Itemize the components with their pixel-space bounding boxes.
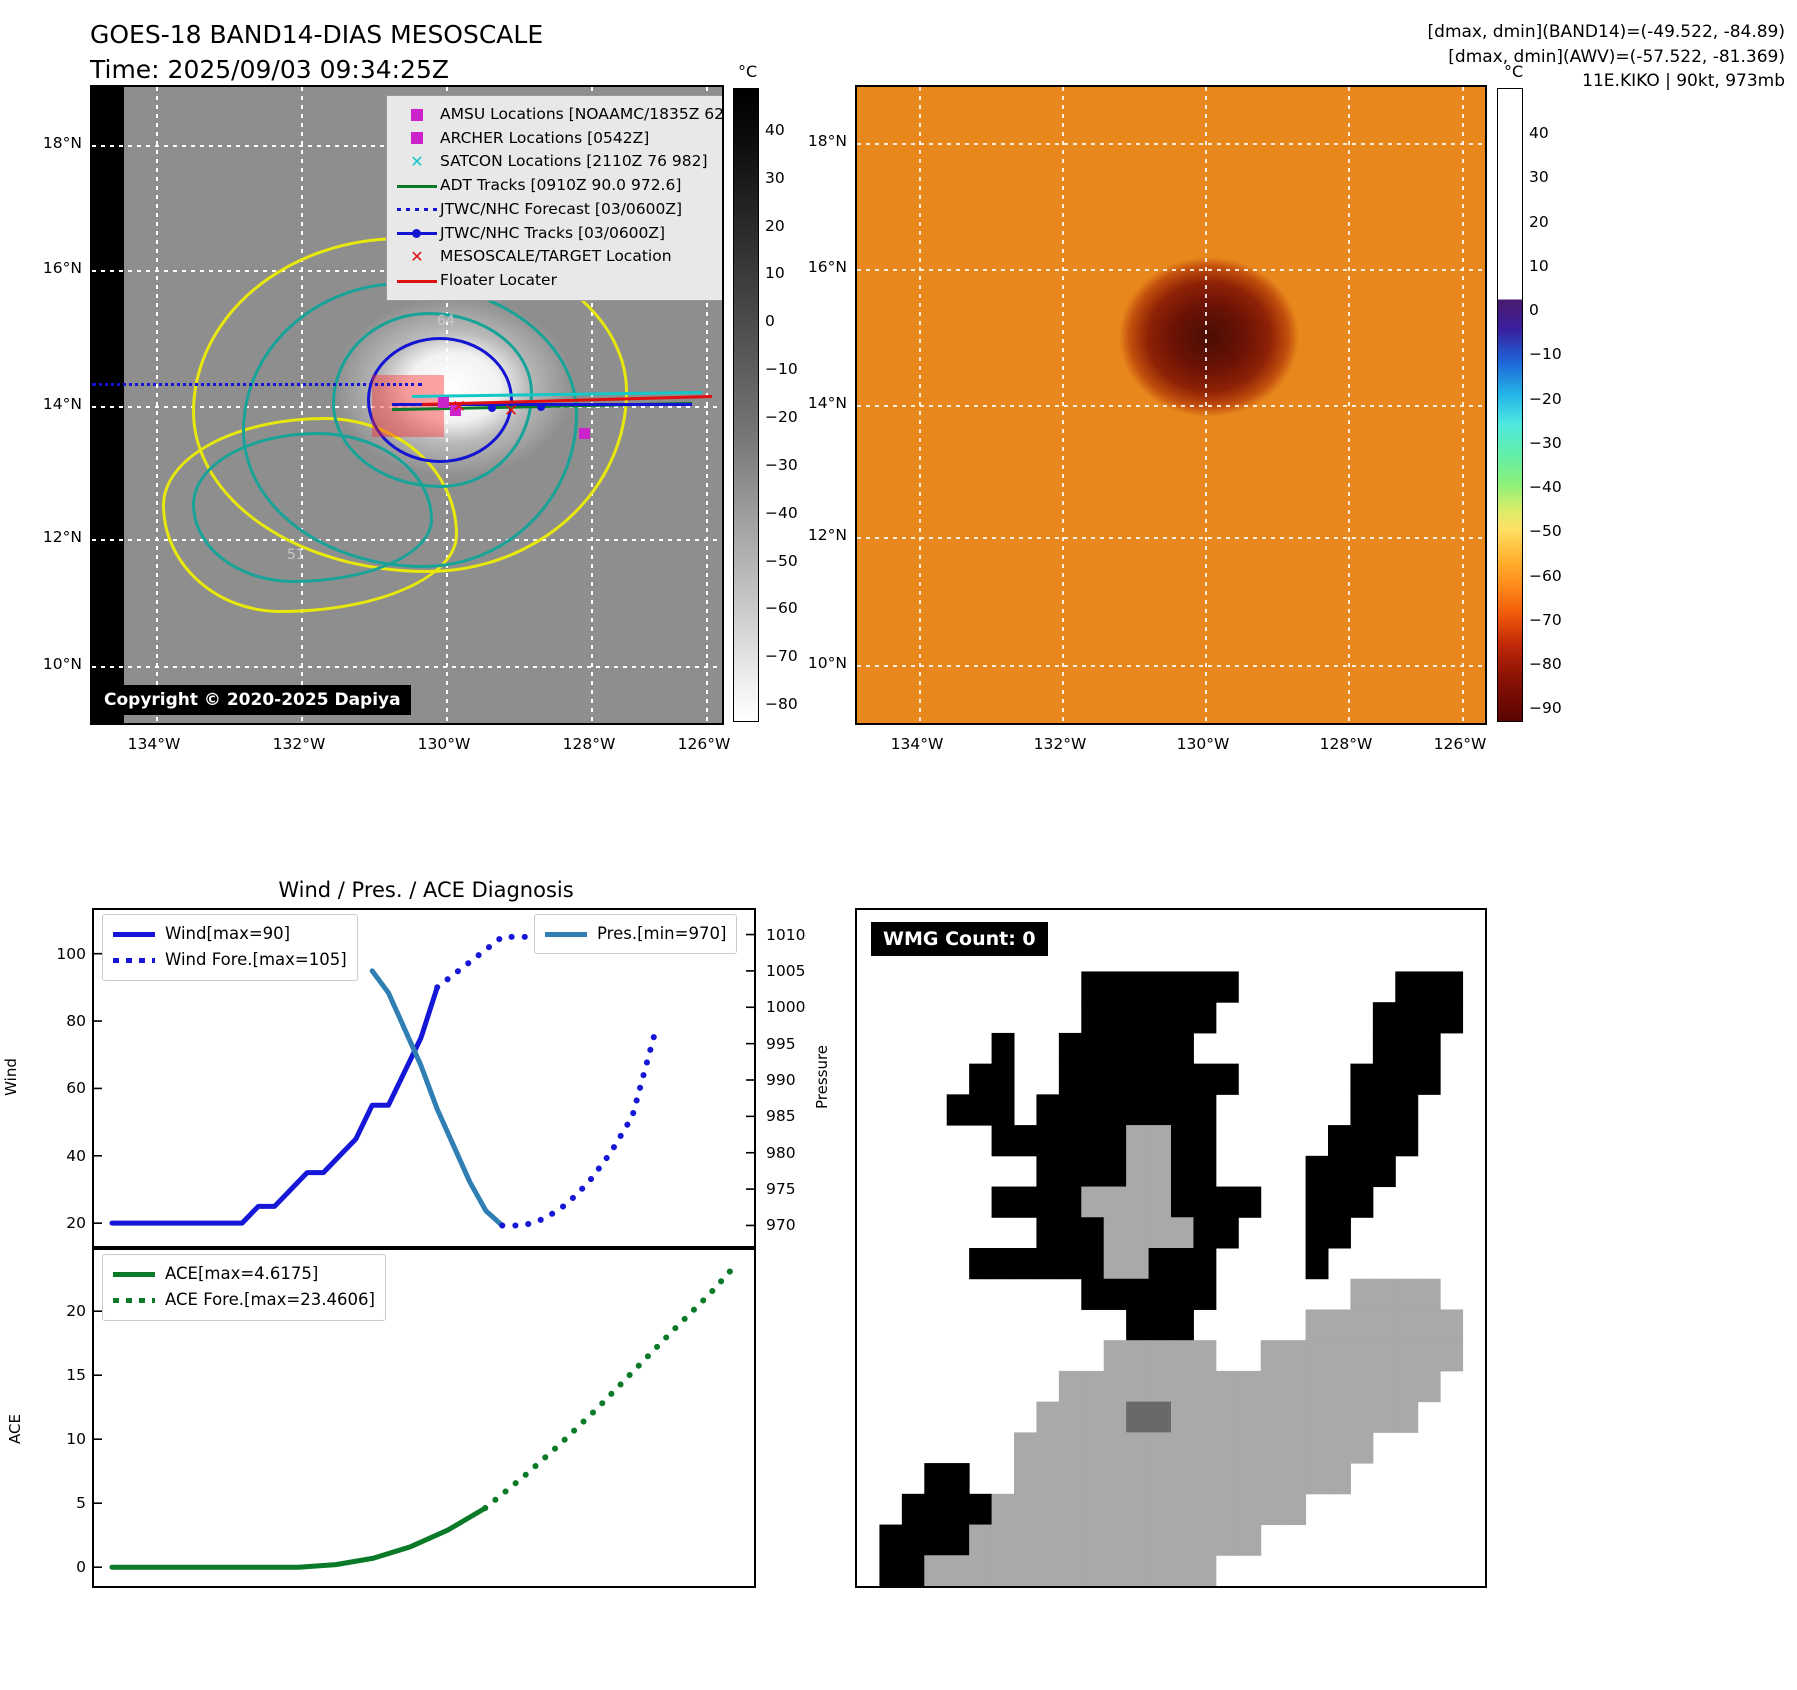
legend-label: ADT Tracks [0910Z 90.0 972.6] <box>440 174 681 198</box>
archer-location-marker <box>579 428 590 439</box>
mesoscale-target-x: ✕ <box>452 399 466 416</box>
green-solid-line-icon <box>113 1272 165 1277</box>
legend-item-adt: ADT Tracks [0910Z 90.0 972.6] <box>394 174 724 198</box>
ir-colorbar-unit: °C <box>738 62 757 81</box>
ace-chart[interactable]: ACE[max=4.6175] ACE Fore.[max=23.4606] <box>92 1248 756 1588</box>
header-stats: [dmax, dmin](BAND14)=(-49.522, -84.89) [… <box>1428 20 1785 94</box>
awv-lon-label: 134°W <box>891 735 944 753</box>
awv-lon-label: 132°W <box>1034 735 1087 753</box>
ir-cb-tick: −80 <box>765 695 798 713</box>
blue-solid-line-icon <box>113 932 165 937</box>
legend-item-wind-forecast: Wind Fore.[max=105] <box>113 947 347 973</box>
ir-cb-tick: 30 <box>765 169 785 187</box>
legend-label: Wind Fore.[max=105] <box>165 947 347 973</box>
y-tick-label: 5 <box>50 1494 86 1512</box>
blue-line-marker-icon <box>394 232 440 235</box>
legend-item-wind: Wind[max=90] <box>113 921 347 947</box>
legend-item-satcon: ✕ SATCON Locations [2110Z 76 982] <box>394 150 724 174</box>
image-void-area <box>92 87 124 723</box>
legend-label: MESOSCALE/TARGET Location <box>440 245 672 269</box>
teal-solid-line-icon <box>545 932 597 937</box>
y-tick-label: 100 <box>50 945 86 963</box>
y-tick-label: 80 <box>50 1012 86 1030</box>
gridline-lon-134w <box>156 87 158 723</box>
green-line-icon <box>394 185 440 188</box>
blue-dotted-line-icon <box>394 208 440 211</box>
legend-item-mesoscale: ✕ MESOSCALE/TARGET Location <box>394 245 724 269</box>
jtwc-track-point <box>537 403 545 411</box>
ir-lon-label: 132°W <box>273 735 326 753</box>
legend-item-pressure: Pres.[min=970] <box>545 921 726 947</box>
contour-label-64: 64 <box>437 313 455 329</box>
legend-item-ace: ACE[max=4.6175] <box>113 1261 375 1287</box>
pressure-tick-label: 975 <box>766 1180 796 1198</box>
ir-cb-tick: −50 <box>765 552 798 570</box>
ir-lon-label: 128°W <box>563 735 616 753</box>
awv-lat-label: 10°N <box>785 654 847 672</box>
pressure-tick-label: 990 <box>766 1071 796 1089</box>
ace-chart-legend: ACE[max=4.6175] ACE Fore.[max=23.4606] <box>102 1254 386 1321</box>
legend-item-archer: ARCHER Locations [0542Z] <box>394 127 724 151</box>
time-line: Time: 2025/09/03 09:34:25Z <box>90 53 890 88</box>
mesoscale-target-x: ✕ <box>504 403 518 420</box>
wind-y-axis-label: Wind <box>2 1058 20 1096</box>
pressure-y-axis-label: Pressure <box>813 1045 831 1109</box>
awv-lat-label: 16°N <box>785 258 847 276</box>
awv-lon-label: 130°W <box>1177 735 1230 753</box>
page-title: GOES-18 BAND14-DIAS MESOSCALE Time: 2025… <box>90 18 890 87</box>
pressure-tick-label: 985 <box>766 1107 796 1125</box>
green-dotted-line-icon <box>113 1298 165 1303</box>
ir-lat-label: 12°N <box>20 528 82 546</box>
legend-label: SATCON Locations [2110Z 76 982] <box>440 150 708 174</box>
awv-lat-label: 14°N <box>785 394 847 412</box>
amsu-location-marker <box>438 397 449 408</box>
legend-label: JTWC/NHC Tracks [03/0600Z] <box>440 222 665 246</box>
y-tick-label: 20 <box>50 1302 86 1320</box>
wmg-mask-field <box>857 910 1485 1586</box>
track-jtwc-nhc-forecast <box>92 383 422 386</box>
pressure-tick-label: 1000 <box>766 998 805 1016</box>
legend-item-jtwc-tracks: JTWC/NHC Tracks [03/0600Z] <box>394 222 724 246</box>
red-line-icon <box>394 280 440 283</box>
gridline-lat-10n <box>92 666 722 668</box>
y-tick-label: 10 <box>50 1430 86 1448</box>
ir-cb-tick: 10 <box>765 264 785 282</box>
awv-cb-tick: −80 <box>1529 655 1562 673</box>
awv-colorbar <box>1497 88 1523 722</box>
awv-cb-tick: 0 <box>1529 301 1539 319</box>
ace-y-axis-label: ACE <box>6 1414 24 1444</box>
red-x-icon: ✕ <box>394 245 440 269</box>
legend-label: Pres.[min=970] <box>597 921 726 947</box>
awv-cb-tick: −50 <box>1529 522 1562 540</box>
gridline-lat-10n <box>857 665 1485 667</box>
wind-pres-ace-title: Wind / Pres. / ACE Diagnosis <box>92 878 760 902</box>
ir-map-legend: AMSU Locations [NOAAMC/1835Z 62 990] ARC… <box>386 95 724 301</box>
legend-item-ace-forecast: ACE Fore.[max=23.4606] <box>113 1287 375 1313</box>
stats-awv: [dmax, dmin](AWV)=(-57.522, -81.369) <box>1428 45 1785 70</box>
ir-cb-tick: 0 <box>765 312 775 330</box>
ir-lat-label: 16°N <box>20 259 82 277</box>
ir-cb-tick: 20 <box>765 217 785 235</box>
awv-cb-tick: 10 <box>1529 257 1549 275</box>
legend-label: JTWC/NHC Forecast [03/0600Z] <box>440 198 682 222</box>
legend-label: AMSU Locations [NOAAMC/1835Z 62 990] <box>440 103 724 127</box>
pressure-tick-label: 980 <box>766 1144 796 1162</box>
wind-chart-legend: Wind[max=90] Wind Fore.[max=105] <box>102 914 358 981</box>
wind-pressure-chart[interactable]: Wind[max=90] Wind Fore.[max=105] Pres.[m… <box>92 908 756 1248</box>
pressure-tick-label: 970 <box>766 1216 796 1234</box>
awv-colorbar-unit: °C <box>1504 62 1523 81</box>
jtwc-track-point <box>488 404 496 412</box>
awv-lat-label: 18°N <box>785 132 847 150</box>
legend-label: Wind[max=90] <box>165 921 290 947</box>
awv-cb-tick: −60 <box>1529 567 1562 585</box>
contour-label-51: 51 <box>287 547 305 563</box>
y-tick-label: 15 <box>50 1366 86 1384</box>
y-tick-label: 20 <box>50 1214 86 1232</box>
awv-cb-tick: −20 <box>1529 390 1562 408</box>
stats-band14: [dmax, dmin](BAND14)=(-49.522, -84.89) <box>1428 20 1785 45</box>
y-tick-label: 0 <box>50 1558 86 1576</box>
gridline-lat-16n <box>857 269 1485 271</box>
gridline-lat-18n <box>857 143 1485 145</box>
awv-cb-tick: −40 <box>1529 478 1562 496</box>
awv-cb-tick: 40 <box>1529 124 1549 142</box>
title-line: GOES-18 BAND14-DIAS MESOSCALE <box>90 18 890 53</box>
ir-lat-label: 14°N <box>20 395 82 413</box>
awv-cb-tick: −10 <box>1529 345 1562 363</box>
pressure-tick-label: 1010 <box>766 926 805 944</box>
awv-cb-tick: −30 <box>1529 434 1562 452</box>
ir-cb-tick: −30 <box>765 456 798 474</box>
cyan-x-icon: ✕ <box>394 150 440 174</box>
blue-dotted-line-icon <box>113 958 165 963</box>
ir-colorbar <box>733 88 759 722</box>
gridline-lat-12n <box>857 537 1485 539</box>
ir-cb-tick: 40 <box>765 121 785 139</box>
awv-cb-tick: −70 <box>1529 611 1562 629</box>
awv-cb-tick: 30 <box>1529 168 1549 186</box>
ir-cb-tick: −10 <box>765 360 798 378</box>
magenta-square-icon <box>394 109 440 121</box>
ir-lat-label: 18°N <box>20 134 82 152</box>
pressure-chart-legend: Pres.[min=970] <box>534 914 737 954</box>
ir-lat-label: 10°N <box>20 655 82 673</box>
wmg-count-badge: WMG Count: 0 <box>871 922 1048 956</box>
y-tick-label: 60 <box>50 1079 86 1097</box>
legend-label: ARCHER Locations [0542Z] <box>440 127 649 151</box>
awv-lon-label: 126°W <box>1434 735 1487 753</box>
ir-lon-label: 134°W <box>128 735 181 753</box>
legend-item-floater: Floater Locater <box>394 269 724 293</box>
ir-lon-label: 126°W <box>678 735 731 753</box>
legend-item-amsu: AMSU Locations [NOAAMC/1835Z 62 990] <box>394 103 724 127</box>
gridline-lat-14n <box>857 405 1485 407</box>
magenta-square-icon <box>394 132 440 144</box>
awv-lon-label: 128°W <box>1320 735 1373 753</box>
awv-satellite-image[interactable] <box>855 85 1487 725</box>
wmg-mask-image[interactable]: WMG Count: 0 <box>855 908 1487 1588</box>
pressure-tick-label: 995 <box>766 1035 796 1053</box>
y-tick-label: 40 <box>50 1147 86 1165</box>
awv-cb-tick: −90 <box>1529 699 1562 717</box>
legend-item-jtwc-forecast: JTWC/NHC Forecast [03/0600Z] <box>394 198 724 222</box>
awv-lat-label: 12°N <box>785 526 847 544</box>
ir-cb-tick: −60 <box>765 599 798 617</box>
awv-cb-tick: 20 <box>1529 213 1549 231</box>
pressure-tick-label: 1005 <box>766 962 805 980</box>
legend-label: ACE[max=4.6175] <box>165 1261 318 1287</box>
ir-cb-tick: −40 <box>765 504 798 522</box>
ir-satellite-image[interactable]: 64 51 ✕ ✕ AMSU Locations [NOAAMC/1835Z 6… <box>90 85 724 725</box>
legend-label: Floater Locater <box>440 269 557 293</box>
ir-lon-label: 130°W <box>418 735 471 753</box>
legend-label: ACE Fore.[max=23.4606] <box>165 1287 375 1313</box>
copyright-notice: Copyright © 2020-2025 Dapiya <box>94 685 411 715</box>
